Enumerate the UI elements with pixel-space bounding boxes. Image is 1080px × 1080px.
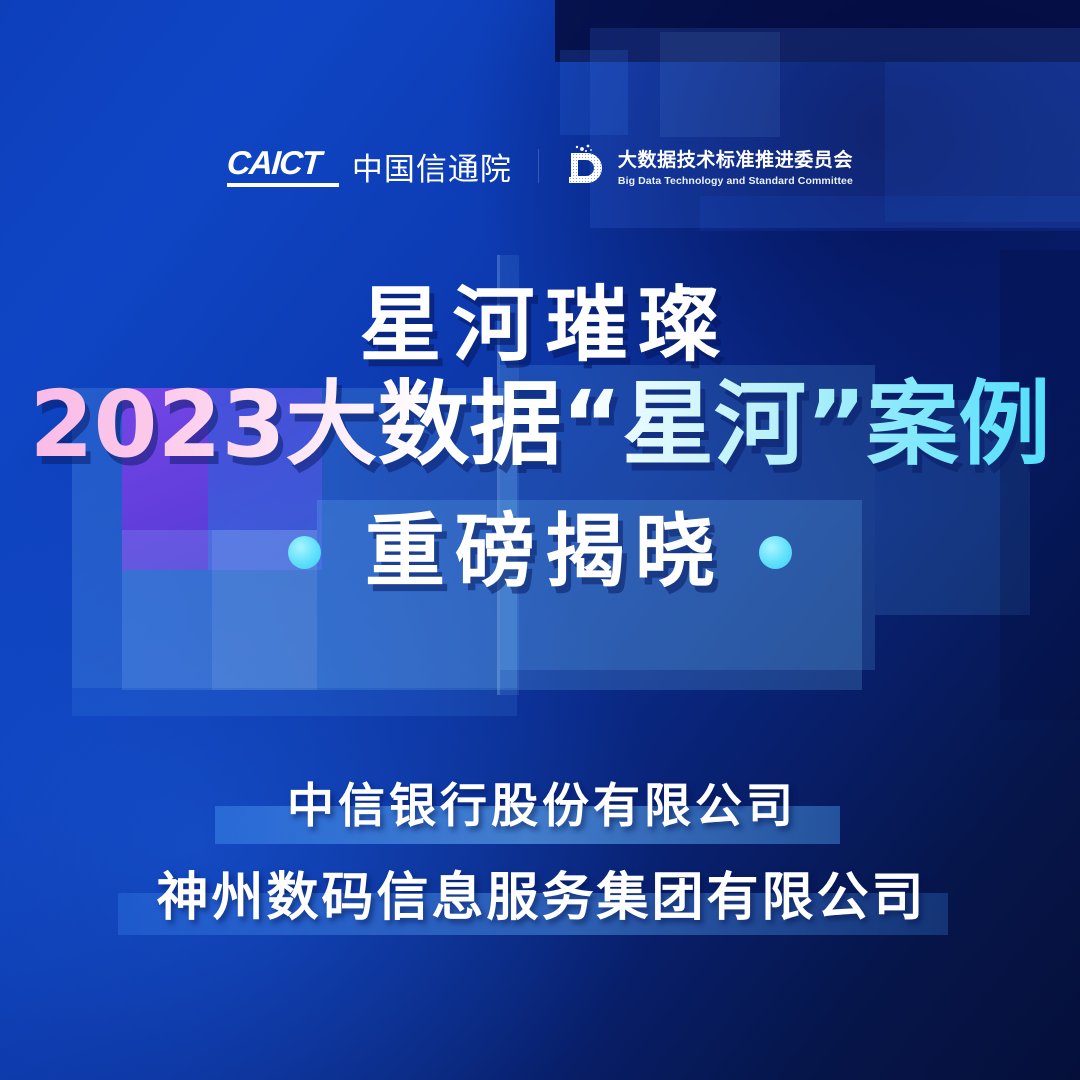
header-logos: CAICT 中国信通院 — [0, 138, 1080, 194]
decor-block-top-right-5 — [700, 196, 1080, 231]
title-line-3-row: 重磅揭晓 — [0, 509, 1080, 595]
awardee-list: 中信银行股份有限公司 神州数码信息服务集团有限公司 — [0, 778, 1080, 930]
caict-chinese-name: 中国信通院 — [352, 144, 512, 189]
decor-block-center-low — [72, 688, 517, 716]
logo-divider — [538, 149, 539, 183]
title-group: 星河璀璨 2023大数据“星河”案例 重磅揭晓 — [0, 283, 1080, 595]
decor-block-top-right-4 — [560, 50, 628, 135]
cyan-dot-icon-left — [288, 536, 321, 569]
big-data-d-icon — [565, 143, 607, 189]
awardee-name-2: 神州数码信息服务集团有限公司 — [0, 866, 1080, 930]
cyan-dot-icon-right — [759, 536, 792, 569]
title-line-2: 2023大数据“星河”案例 — [0, 375, 1080, 475]
committee-chinese-name: 大数据技术标准推进委员会 — [618, 145, 853, 172]
caict-underline-rule — [227, 183, 339, 187]
committee-english-name: Big Data Technology and Standard Committ… — [618, 175, 853, 187]
awardee-name-1: 中信银行股份有限公司 — [0, 778, 1080, 836]
decor-block-top-right-3 — [660, 32, 780, 137]
poster-canvas: CAICT 中国信通院 — [0, 0, 1080, 1080]
committee-logo: 大数据技术标准推进委员会 Big Data Technology and Sta… — [565, 143, 853, 189]
caict-logo: CAICT 中国信通院 — [227, 144, 512, 189]
title-line-1: 星河璀璨 — [0, 283, 1080, 369]
committee-text: 大数据技术标准推进委员会 Big Data Technology and Sta… — [618, 145, 853, 187]
caict-wordmark-icon: CAICT — [227, 146, 339, 187]
title-line-3: 重磅揭晓 — [355, 509, 725, 595]
caict-acronym: CAICT — [226, 146, 322, 179]
